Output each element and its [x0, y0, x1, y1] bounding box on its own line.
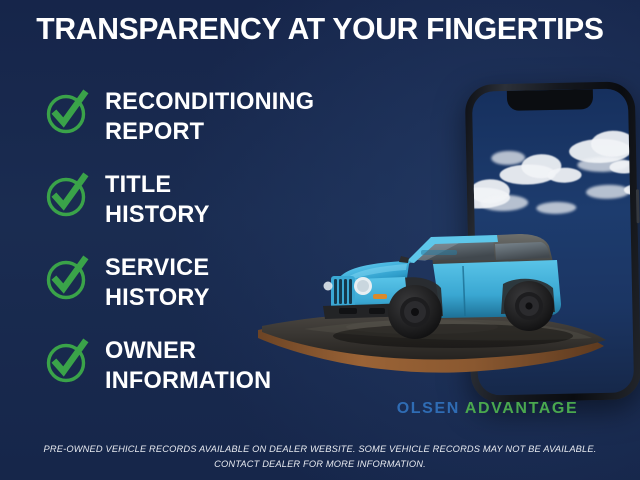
disclaimer-line-1: PRE-OWNED VEHICLE RECORDS AVAILABLE ON D… [18, 442, 622, 457]
check-circle-icon [44, 89, 90, 135]
checklist-item-reconditioning-report: RECONDITIONING REPORT [44, 86, 344, 147]
checklist-item-service-history: SERVICE HISTORY [44, 252, 344, 313]
wheel-rear [504, 281, 554, 331]
checklist-item-label: SERVICE HISTORY [105, 252, 210, 313]
checklist-item-label: OWNER INFORMATION [105, 335, 271, 396]
feature-checklist: RECONDITIONING REPORT TITLE HISTORY SERV… [44, 86, 344, 396]
disclaimer-line-2: CONTACT DEALER FOR MORE INFORMATION. [18, 457, 622, 472]
phone-notch-icon [507, 89, 593, 111]
phone-side-button-icon [636, 189, 640, 223]
checklist-item-label: RECONDITIONING REPORT [105, 86, 314, 147]
brand-name-primary: OLSEN [397, 400, 460, 417]
wheel-front [388, 285, 442, 339]
jeep-wrangler-icon [313, 220, 585, 352]
check-circle-icon [44, 338, 90, 384]
checklist-item-label: TITLE HISTORY [105, 169, 210, 230]
disclaimer-text: PRE-OWNED VEHICLE RECORDS AVAILABLE ON D… [18, 442, 622, 471]
checklist-item-title-history: TITLE HISTORY [44, 169, 344, 230]
promo-banner: TRANSPARENCY AT YOUR FINGERTIPS [0, 0, 640, 480]
page-title: TRANSPARENCY AT YOUR FINGERTIPS [10, 12, 631, 46]
check-circle-icon [44, 172, 90, 218]
check-circle-icon [44, 255, 90, 301]
checklist-item-owner-information: OWNER INFORMATION [44, 335, 344, 396]
brand-name-secondary: ADVANTAGE [465, 400, 578, 417]
